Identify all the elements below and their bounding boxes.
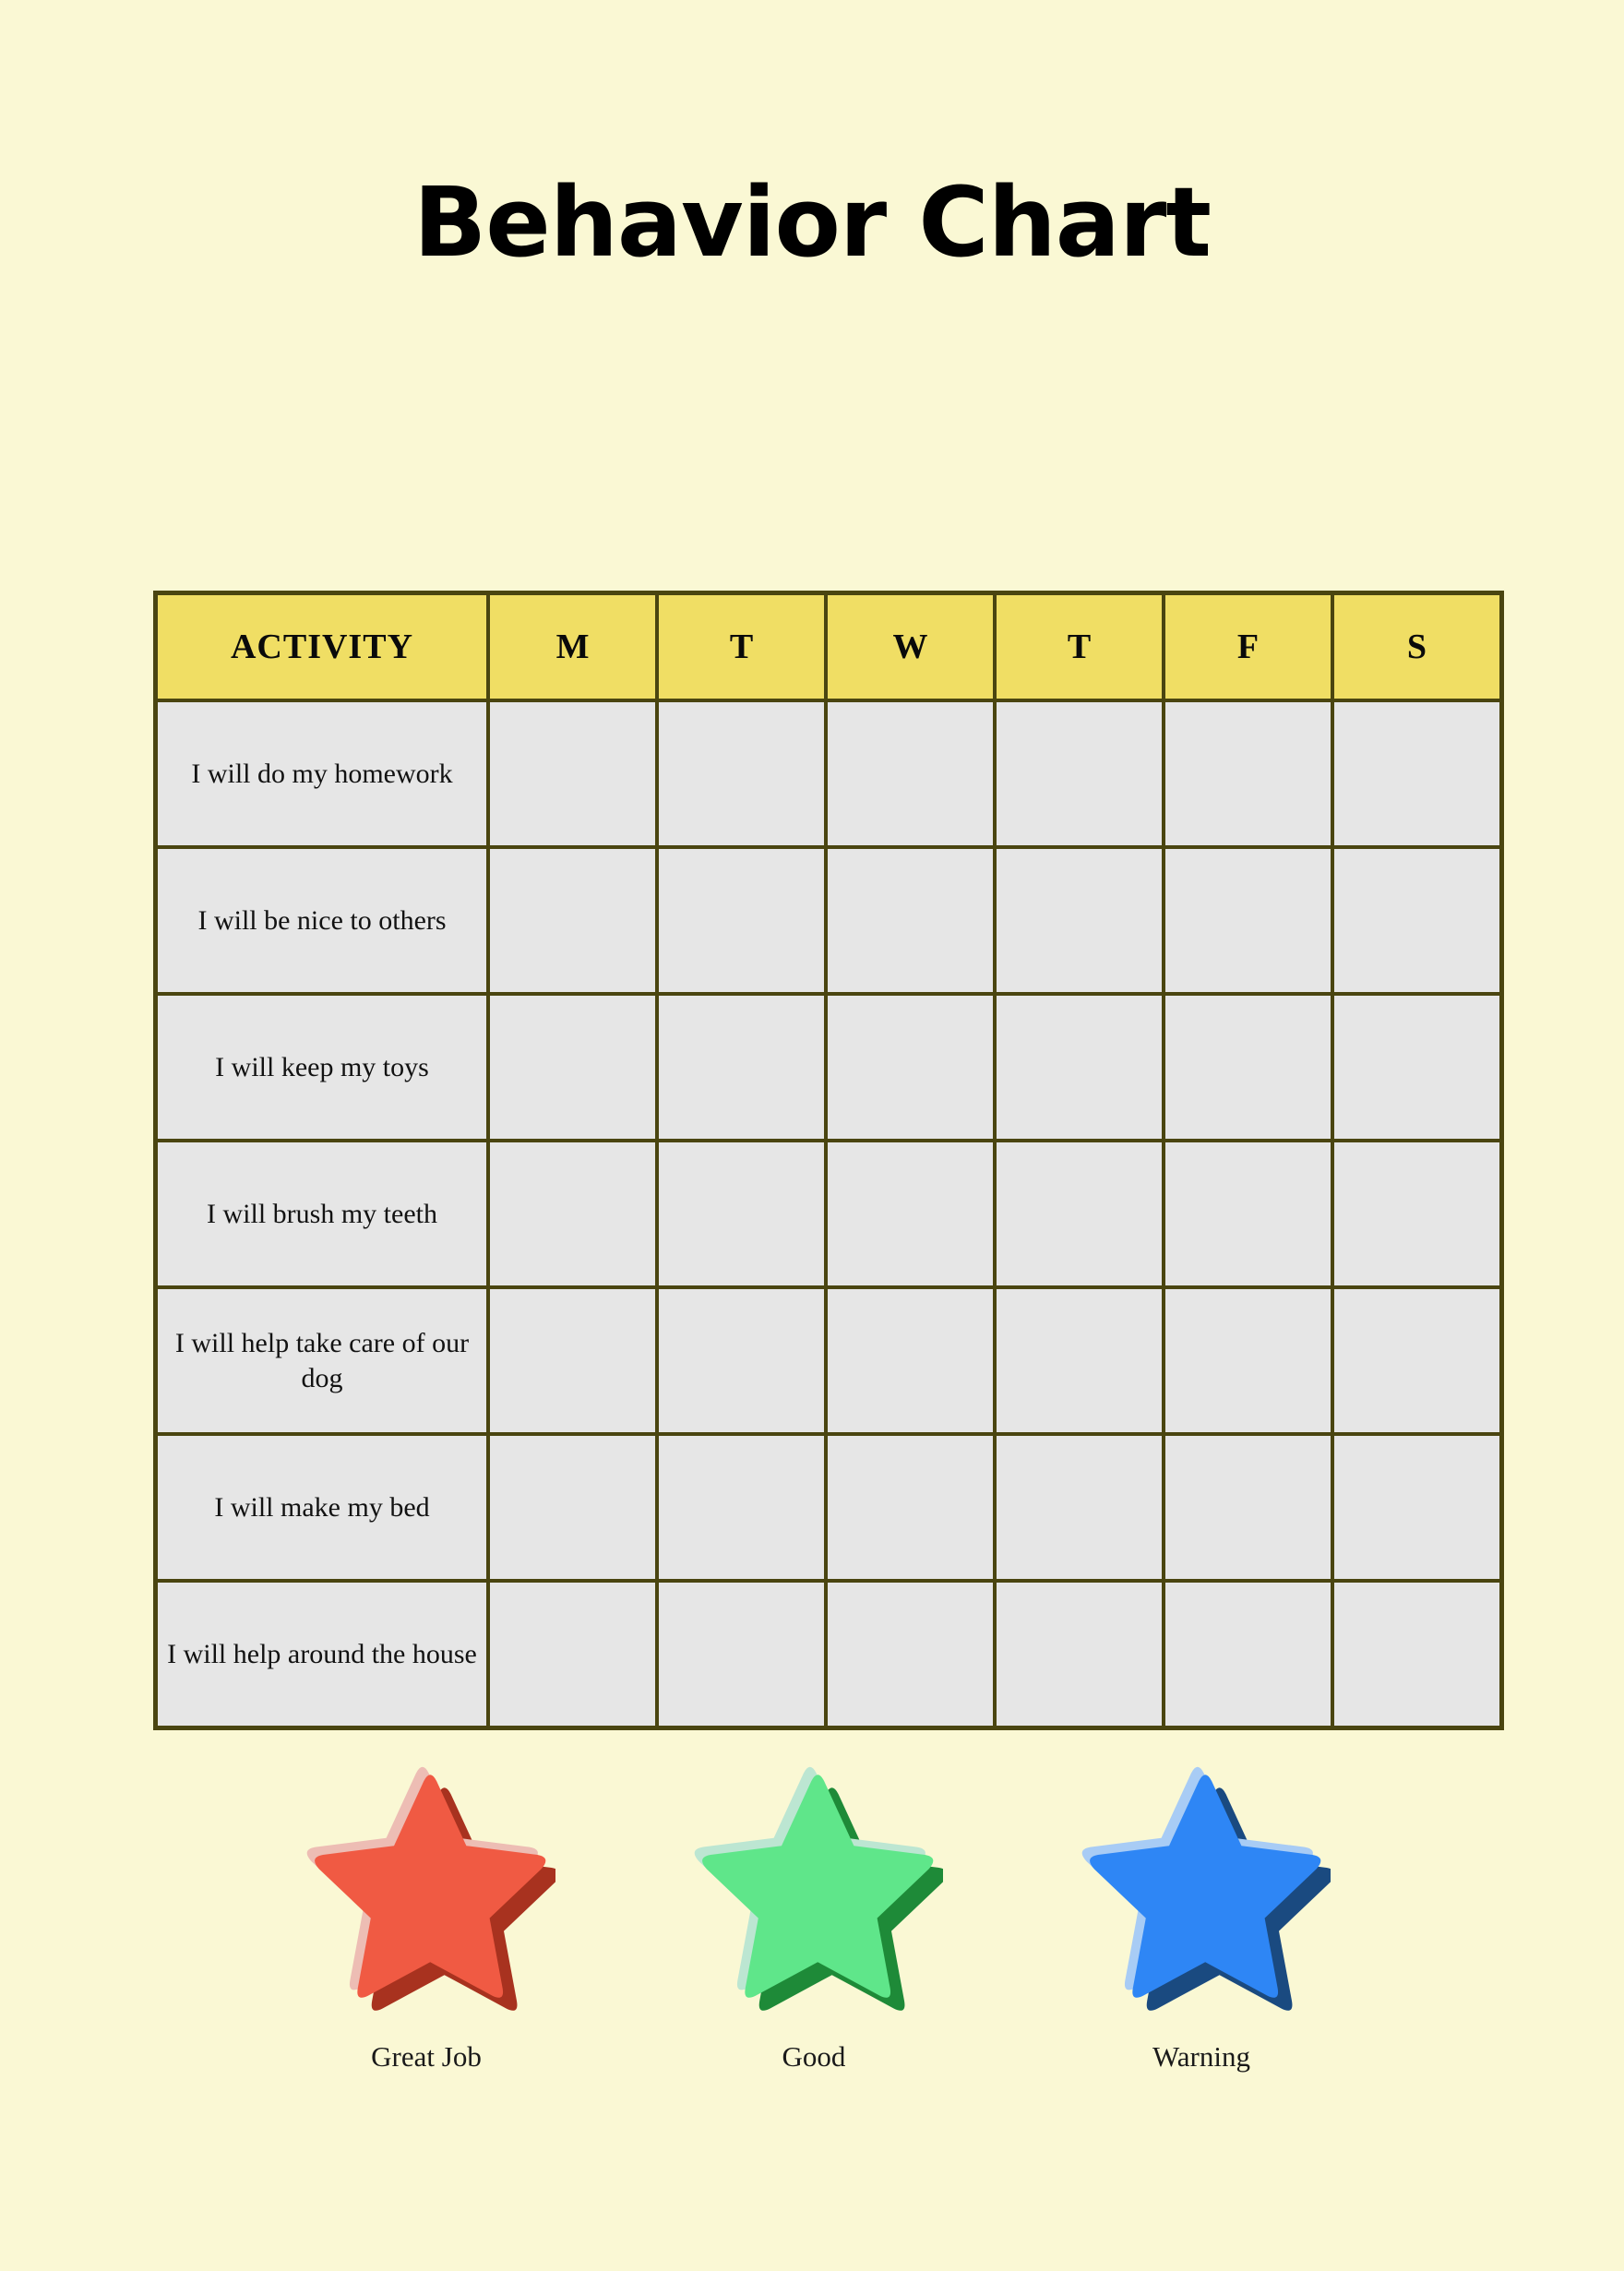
mark-cell-wed[interactable] [826, 1434, 995, 1581]
table-row: I will keep my toys [156, 994, 1502, 1141]
mark-cell-mon[interactable] [488, 1581, 657, 1728]
mark-cell-wed[interactable] [826, 700, 995, 847]
table-row: I will make my bed [156, 1434, 1502, 1581]
activity-cell: I will keep my toys [156, 994, 489, 1141]
mark-cell-sat[interactable] [1332, 1434, 1502, 1581]
table-row: I will be nice to others [156, 847, 1502, 994]
table-header: ACTIVITY M T W T F [156, 593, 1502, 701]
mark-cell-thu[interactable] [995, 700, 1164, 847]
page-title: Behavior Chart [0, 168, 1624, 279]
star-icon-red-container [297, 1758, 555, 2016]
mark-cell-mon[interactable] [488, 1141, 657, 1287]
table-row: I will do my homework [156, 700, 1502, 847]
mark-cell-tue[interactable] [657, 994, 826, 1141]
column-header-sat: S [1332, 593, 1502, 701]
mark-cell-fri[interactable] [1164, 1581, 1332, 1728]
activity-cell: I will help take care of our dog [156, 1287, 489, 1434]
mark-cell-thu[interactable] [995, 1434, 1164, 1581]
activity-cell: I will help around the house [156, 1581, 489, 1728]
mark-cell-wed[interactable] [826, 847, 995, 994]
mark-cell-fri[interactable] [1164, 994, 1332, 1141]
activity-cell: I will make my bed [156, 1434, 489, 1581]
column-header-fri-label: F [1237, 628, 1259, 666]
mark-cell-mon[interactable] [488, 700, 657, 847]
behavior-chart-page: Behavior Chart ACTIVITY M T W [0, 0, 1624, 2271]
mark-cell-fri[interactable] [1164, 1287, 1332, 1434]
activity-label: I will help take care of our dog [158, 1326, 486, 1395]
mark-cell-thu[interactable] [995, 994, 1164, 1141]
legend-label-great-job: Great Job [371, 2040, 482, 2074]
star-icon [685, 1758, 943, 2016]
mark-cell-tue[interactable] [657, 1141, 826, 1287]
mark-cell-mon[interactable] [488, 1434, 657, 1581]
column-header-thu: T [995, 593, 1164, 701]
column-header-activity: ACTIVITY [156, 593, 489, 701]
activity-label: I will do my homework [158, 757, 486, 792]
activity-cell: I will brush my teeth [156, 1141, 489, 1287]
table-row: I will help take care of our dog [156, 1287, 1502, 1434]
column-header-thu-label: T [1068, 628, 1091, 666]
activity-label: I will keep my toys [158, 1050, 486, 1085]
column-header-tue: T [657, 593, 826, 701]
legend-item-warning: Warning [1008, 1758, 1395, 2074]
column-header-wed: W [826, 593, 995, 701]
mark-cell-thu[interactable] [995, 1287, 1164, 1434]
behavior-table: ACTIVITY M T W T F [153, 591, 1504, 1730]
mark-cell-wed[interactable] [826, 1287, 995, 1434]
activity-label: I will help around the house [158, 1637, 486, 1672]
star-icon-green-container [685, 1758, 943, 2016]
legend-item-great-job: Great Job [233, 1758, 620, 2074]
column-header-wed-label: W [893, 628, 928, 666]
activity-label: I will be nice to others [158, 903, 486, 938]
mark-cell-fri[interactable] [1164, 847, 1332, 994]
mark-cell-sat[interactable] [1332, 1581, 1502, 1728]
star-icon-blue-container [1072, 1758, 1331, 2016]
mark-cell-tue[interactable] [657, 700, 826, 847]
mark-cell-mon[interactable] [488, 994, 657, 1141]
mark-cell-tue[interactable] [657, 1434, 826, 1581]
mark-cell-mon[interactable] [488, 847, 657, 994]
mark-cell-fri[interactable] [1164, 1434, 1332, 1581]
mark-cell-fri[interactable] [1164, 700, 1332, 847]
mark-cell-sat[interactable] [1332, 700, 1502, 847]
mark-cell-sat[interactable] [1332, 1287, 1502, 1434]
mark-cell-fri[interactable] [1164, 1141, 1332, 1287]
mark-cell-tue[interactable] [657, 847, 826, 994]
legend-label-warning: Warning [1152, 2040, 1250, 2074]
mark-cell-sat[interactable] [1332, 994, 1502, 1141]
behavior-table-container: ACTIVITY M T W T F [153, 591, 1475, 1730]
activity-cell: I will do my homework [156, 700, 489, 847]
column-header-mon: M [488, 593, 657, 701]
mark-cell-tue[interactable] [657, 1581, 826, 1728]
table-row: I will help around the house [156, 1581, 1502, 1728]
mark-cell-thu[interactable] [995, 847, 1164, 994]
table-row: I will brush my teeth [156, 1141, 1502, 1287]
legend-item-good: Good [620, 1758, 1008, 2074]
mark-cell-wed[interactable] [826, 994, 995, 1141]
mark-cell-sat[interactable] [1332, 1141, 1502, 1287]
table-body: I will do my homework I will be nice to … [156, 700, 1502, 1728]
column-header-mon-label: M [556, 628, 590, 666]
column-header-sat-label: S [1407, 628, 1427, 666]
activity-label: I will make my bed [158, 1490, 486, 1525]
legend: Great Job Good Warning [153, 1758, 1475, 2074]
legend-label-good: Good [782, 2040, 846, 2074]
mark-cell-thu[interactable] [995, 1581, 1164, 1728]
column-header-fri: F [1164, 593, 1332, 701]
mark-cell-tue[interactable] [657, 1287, 826, 1434]
star-icon [1072, 1758, 1331, 2016]
mark-cell-wed[interactable] [826, 1581, 995, 1728]
table-header-row: ACTIVITY M T W T F [156, 593, 1502, 701]
mark-cell-thu[interactable] [995, 1141, 1164, 1287]
star-icon [297, 1758, 555, 2016]
mark-cell-wed[interactable] [826, 1141, 995, 1287]
column-header-activity-label: ACTIVITY [231, 628, 413, 666]
column-header-tue-label: T [730, 628, 753, 666]
activity-label: I will brush my teeth [158, 1197, 486, 1232]
mark-cell-mon[interactable] [488, 1287, 657, 1434]
activity-cell: I will be nice to others [156, 847, 489, 994]
mark-cell-sat[interactable] [1332, 847, 1502, 994]
